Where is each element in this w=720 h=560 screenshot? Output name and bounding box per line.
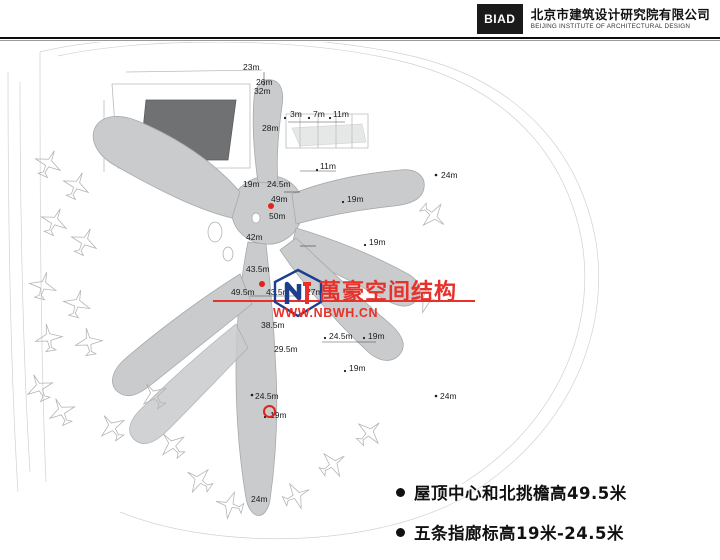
brand-text: 北京市建筑设计研究院有限公司 BEIJING INSTITUTE OF ARCH…	[531, 8, 710, 30]
dimension-label: 3m	[290, 109, 302, 119]
dimension-label: 24.5m	[267, 179, 291, 189]
dimension-label: 43.5m	[246, 264, 270, 274]
company-name-cn: 北京市建筑设计研究院有限公司	[531, 8, 710, 22]
dimension-label: 24.5m	[329, 331, 353, 341]
dimension-label: 11m	[333, 109, 349, 119]
dimension-label: 19m	[347, 194, 364, 204]
company-name-en: BEIJING INSTITUTE OF ARCHITECTURAL DESIG…	[531, 23, 710, 30]
dimension-label: 24m	[251, 494, 268, 504]
dimension-label: 29.5m	[274, 344, 298, 354]
dimension-label: 11m	[320, 161, 336, 171]
bullet-icon	[396, 528, 405, 537]
airport-roof-plan: .bld{fill:#c9cbcc;stroke:#a7a9ab;stroke-…	[0, 42, 720, 540]
page-header: BIAD 北京市建筑设计研究院有限公司 BEIJING INSTITUTE OF…	[0, 0, 720, 38]
bullet-icon	[396, 488, 405, 497]
dimension-label: 19m	[349, 363, 366, 373]
dimension-label: 49.5m	[231, 287, 255, 297]
dimension-label: 50m	[269, 211, 286, 221]
callout-item: 五条指廊标高19米-24.5米	[396, 520, 696, 544]
dimension-label: 38.5m	[261, 320, 285, 330]
biad-logo-mark: BIAD	[477, 4, 523, 34]
height-point-marker	[268, 203, 274, 209]
header-divider-thin	[0, 40, 720, 41]
dimension-label: 23m	[243, 62, 260, 72]
dimension-label: 27m	[306, 287, 323, 297]
dimension-label: 43.5m	[266, 287, 290, 297]
callout-item: 屋顶中心和北挑檐高49.5米	[396, 480, 696, 504]
callout-text: 五条指廊标高19米-24.5米	[414, 520, 624, 544]
callout-list: 屋顶中心和北挑檐高49.5米 五条指廊标高19米-24.5米	[396, 480, 696, 560]
dimension-label: 19m	[243, 179, 260, 189]
dimension-label: 32m	[254, 86, 271, 96]
dimension-label: 7m	[313, 109, 325, 119]
dimension-label: 19m	[368, 331, 385, 341]
height-ring-marker	[263, 405, 276, 418]
header-divider	[0, 37, 720, 39]
height-point-marker	[259, 281, 265, 287]
dimension-label: 24m	[440, 391, 457, 401]
dimension-label: 24.5m	[255, 391, 279, 401]
dimension-label: 49m	[271, 194, 288, 204]
dimension-label: 42m	[246, 232, 263, 242]
plan-vector-graphic: .bld{fill:#c9cbcc;stroke:#a7a9ab;stroke-…	[0, 42, 720, 540]
callout-text: 屋顶中心和北挑檐高49.5米	[414, 480, 627, 504]
brand-block: BIAD 北京市建筑设计研究院有限公司 BEIJING INSTITUTE OF…	[477, 0, 720, 38]
dimension-label: 28m	[262, 123, 279, 133]
dimension-label: 19m	[369, 237, 386, 247]
dimension-label: 24m	[441, 170, 458, 180]
